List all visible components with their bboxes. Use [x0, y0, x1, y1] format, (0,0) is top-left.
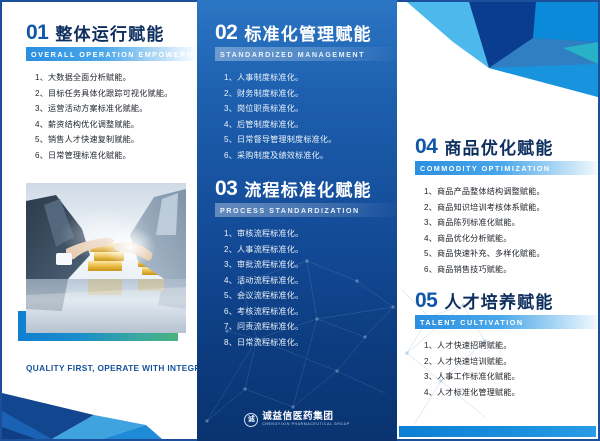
section-05-heading: 05 人才培养赋能: [415, 290, 600, 311]
list-item: 1、人才快速招聘赋能。: [424, 338, 600, 354]
panel-right: 04 商品优化赋能 COMMODITY OPTIMIZATION 1、商品产品整…: [397, 0, 600, 441]
logo-text: 诚益信医药集团 CHENGYIXIN PHARMACEUTICAL GROUP: [262, 412, 350, 427]
list-item: 5、会议流程标准化。: [224, 288, 397, 304]
list-item: 6、采购制度及绩效标准化。: [224, 148, 397, 164]
section-03-title: 流程标准化赋能: [244, 182, 371, 199]
section-04-heading: 04 商品优化赋能: [415, 136, 600, 157]
section-01-list: 1、大数据全面分析赋能。 2、目标任务具体化跟踪可视化赋能。 3、运营活动方案标…: [26, 70, 197, 163]
bottom-accent-bar: [399, 426, 596, 437]
list-item: 7、问责流程标准化。: [224, 319, 397, 335]
list-item: 6、商品销售技巧赋能。: [424, 262, 600, 278]
trifold-brochure: 01 整体运行赋能 OVERALL OPERATION EMPOWERMENT …: [0, 0, 600, 441]
section-03-process-standardization: 03 流程标准化赋能 PROCESS STANDARDIZATION 1、审核流…: [215, 178, 397, 350]
list-item: 3、审批流程标准化。: [224, 257, 397, 273]
list-item: 2、人事流程标准化。: [224, 242, 397, 258]
list-item: 6、日常管理标准化赋能。: [35, 148, 197, 164]
section-01-title: 整体运行赋能: [55, 26, 164, 43]
list-item: 3、运营活动方案标准化赋能。: [35, 101, 197, 117]
section-02-number: 02: [215, 22, 237, 43]
section-01-subtitle: OVERALL OPERATION EMPOWERMENT: [26, 47, 197, 61]
section-04-title: 商品优化赋能: [444, 140, 553, 157]
list-item: 2、目标任务具体化跟踪可视化赋能。: [35, 86, 197, 102]
section-05-talent-cultivation: 05 人才培养赋能 TALENT CULTIVATION 1、人才快速招聘赋能。…: [415, 290, 600, 400]
list-item: 2、人才快速培训赋能。: [424, 354, 600, 370]
list-item: 5、日常督导管理制度标准化。: [224, 132, 397, 148]
list-item: 1、审核流程标准化。: [224, 226, 397, 242]
section-03-subtitle: PROCESS STANDARDIZATION: [215, 203, 397, 217]
section-02-title: 标准化管理赋能: [244, 26, 371, 43]
section-03-heading: 03 流程标准化赋能: [215, 178, 397, 199]
logo-name-en: CHENGYIXIN PHARMACEUTICAL GROUP: [262, 423, 350, 427]
section-04-subtitle: COMMODITY OPTIMIZATION: [415, 161, 600, 175]
section-01-heading: 01 整体运行赋能: [26, 22, 197, 43]
list-item: 4、后管制度标准化。: [224, 117, 397, 133]
section-02-subtitle: STANDARDIZED MANAGEMENT: [215, 47, 397, 61]
list-item: 3、人事工作标准化赋能。: [424, 369, 600, 385]
tagline: QUALITY FIRST, OPERATE WITH INTEGRITY.: [26, 363, 186, 373]
logo-name-cn: 诚益信医药集团: [262, 412, 350, 422]
section-05-number: 05: [415, 290, 437, 311]
section-05-subtitle: TALENT CULTIVATION: [415, 315, 600, 329]
list-item: 5、销售人才快速复制赋能。: [35, 132, 197, 148]
list-item: 1、商品产品整体结构调整赋能。: [424, 184, 600, 200]
section-02-heading: 02 标准化管理赋能: [215, 22, 397, 43]
list-item: 5、商品快速补充、多样化赋能。: [424, 246, 600, 262]
section-04-commodity-optimization: 04 商品优化赋能 COMMODITY OPTIMIZATION 1、商品产品整…: [415, 136, 600, 277]
list-item: 4、人才标准化管理赋能。: [424, 385, 600, 401]
panel-middle: 02 标准化管理赋能 STANDARDIZED MANAGEMENT 1、人事制…: [197, 0, 397, 441]
section-03-number: 03: [215, 178, 237, 199]
panel-left: 01 整体运行赋能 OVERALL OPERATION EMPOWERMENT …: [0, 0, 197, 441]
list-item: 1、人事制度标准化。: [224, 70, 397, 86]
list-item: 3、商品陈列标准化赋能。: [424, 215, 600, 231]
list-item: 4、活动流程标准化。: [224, 273, 397, 289]
section-05-title: 人才培养赋能: [444, 294, 553, 311]
section-04-list: 1、商品产品整体结构调整赋能。 2、商品知识培训考核体系赋能。 3、商品陈列标准…: [415, 184, 600, 277]
list-item: 2、财务制度标准化。: [224, 86, 397, 102]
list-item: 3、岗位职责标准化。: [224, 101, 397, 117]
section-03-list: 1、审核流程标准化。 2、人事流程标准化。 3、审批流程标准化。 4、活动流程标…: [215, 226, 397, 350]
section-01-number: 01: [26, 22, 48, 43]
section-02-list: 1、人事制度标准化。 2、财务制度标准化。 3、岗位职责标准化。 4、后管制度标…: [215, 70, 397, 163]
list-item: 1、大数据全面分析赋能。: [35, 70, 197, 86]
section-04-number: 04: [415, 136, 437, 157]
section-05-list: 1、人才快速招聘赋能。 2、人才快速培训赋能。 3、人事工作标准化赋能。 4、人…: [415, 338, 600, 400]
section-02-standardized-management: 02 标准化管理赋能 STANDARDIZED MANAGEMENT 1、人事制…: [215, 22, 397, 163]
list-item: 6、考核流程标准化。: [224, 304, 397, 320]
decor-polygons-bottom-left: [2, 381, 197, 439]
decor-polygons-top-right: [397, 2, 598, 97]
photo-block: QUALITY FIRST, OPERATE WITH INTEGRITY.: [26, 183, 186, 373]
business-handshake-photo: [26, 183, 186, 333]
company-logo: 诚 诚益信医药集团 CHENGYIXIN PHARMACEUTICAL GROU…: [197, 412, 397, 427]
list-item: 4、商品优化分析赋能。: [424, 231, 600, 247]
logo-monogram-icon: 诚: [244, 413, 258, 427]
list-item: 8、日常流程标准化。: [224, 335, 397, 351]
section-01-overall-operation: 01 整体运行赋能 OVERALL OPERATION EMPOWERMENT …: [26, 22, 197, 163]
photo-frame: [26, 183, 186, 333]
list-item: 4、薪资结构优化调整赋能。: [35, 117, 197, 133]
list-item: 2、商品知识培训考核体系赋能。: [424, 200, 600, 216]
